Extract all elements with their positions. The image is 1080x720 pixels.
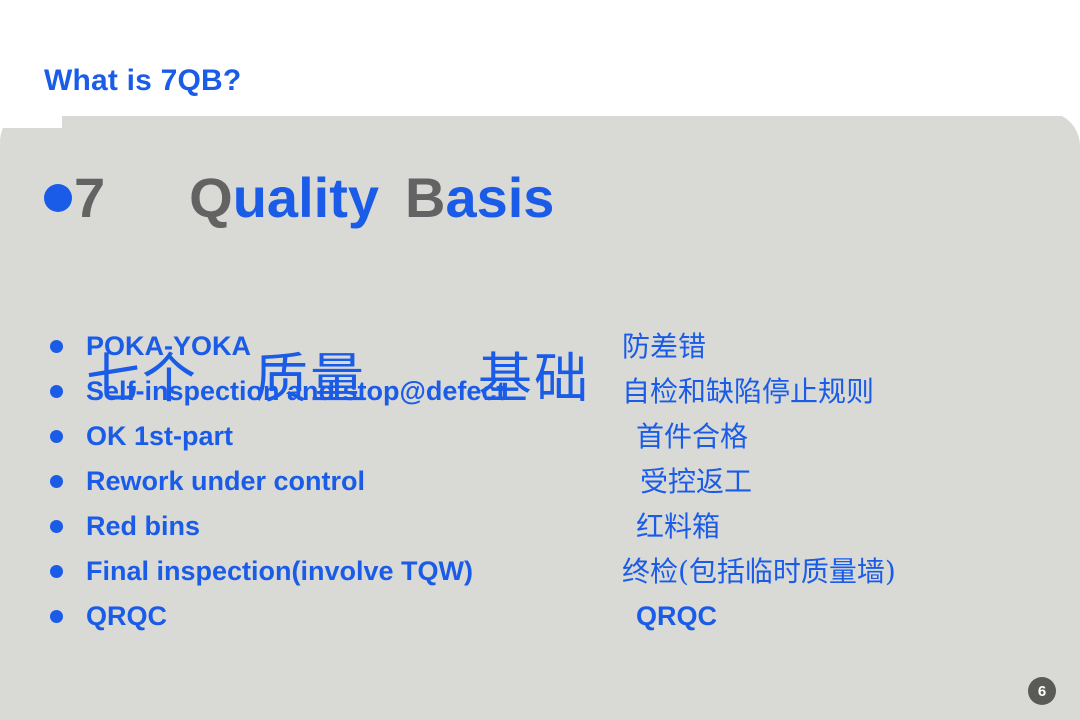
bullet-icon [50,610,63,623]
list-item-label-en: QRQC [86,603,167,630]
main-heading-row: 7QualityBasis [44,170,554,226]
heading-word2-rest: asis [445,166,554,229]
list-item-label-en: Red bins [86,513,200,540]
list-item-label-cn: 受控返工 [640,468,752,496]
list-item: Self-inspection and stop@defect自检和缺陷停止规则 [44,369,1044,414]
list-item: POKA-YOKA防差错 [44,324,1044,369]
list-item-label-cn: 红料箱 [636,513,720,541]
bullet-icon [50,520,63,533]
list-item-label-en: Final inspection(involve TQW) [86,558,473,585]
list-item: OK 1st-part首件合格 [44,414,1044,459]
list-item: Final inspection(involve TQW)终检(包括临时质量墙) [44,549,1044,594]
list-item: QRQCQRQC [44,594,1044,639]
list-item-label-en: Self-inspection and stop@defect [86,378,505,405]
list-item: Rework under control受控返工 [44,459,1044,504]
slide-content: 7QualityBasis 七个 质量 基础 POKA-YOKA防差错Self-… [0,112,1080,720]
heading-word1-first: Q [189,166,233,229]
list-item-label-en: POKA-YOKA [86,333,251,360]
list-item-label-cn: 首件合格 [636,423,748,451]
list-item-label-en: OK 1st-part [86,423,233,450]
bullet-icon [50,340,63,353]
list-item-label-cn: 终检(包括临时质量墙) [622,558,896,586]
header-band [0,0,1080,116]
heading-word1-rest: uality [233,166,379,229]
list-item-label-cn: 自检和缺陷停止规则 [622,378,874,406]
page-number-badge: 6 [1028,677,1056,705]
bullet-list: POKA-YOKA防差错Self-inspection and stop@def… [44,324,1044,639]
main-heading-text: 7QualityBasis [74,170,554,226]
bullet-icon [44,184,72,212]
heading-word2-first: B [405,166,445,229]
bullet-icon [50,430,63,443]
bullet-icon [50,475,63,488]
list-item-label-cn: 防差错 [622,333,706,361]
list-item-label-cn: QRQC [636,603,717,630]
slide-canvas: What is 7QB? 7QualityBasis 七个 质量 基础 POKA… [0,0,1080,720]
list-item-label-en: Rework under control [86,468,365,495]
heading-number: 7 [74,166,105,229]
bullet-icon [50,565,63,578]
bullet-icon [50,385,63,398]
list-item: Red bins红料箱 [44,504,1044,549]
page-title: What is 7QB? [44,64,241,98]
